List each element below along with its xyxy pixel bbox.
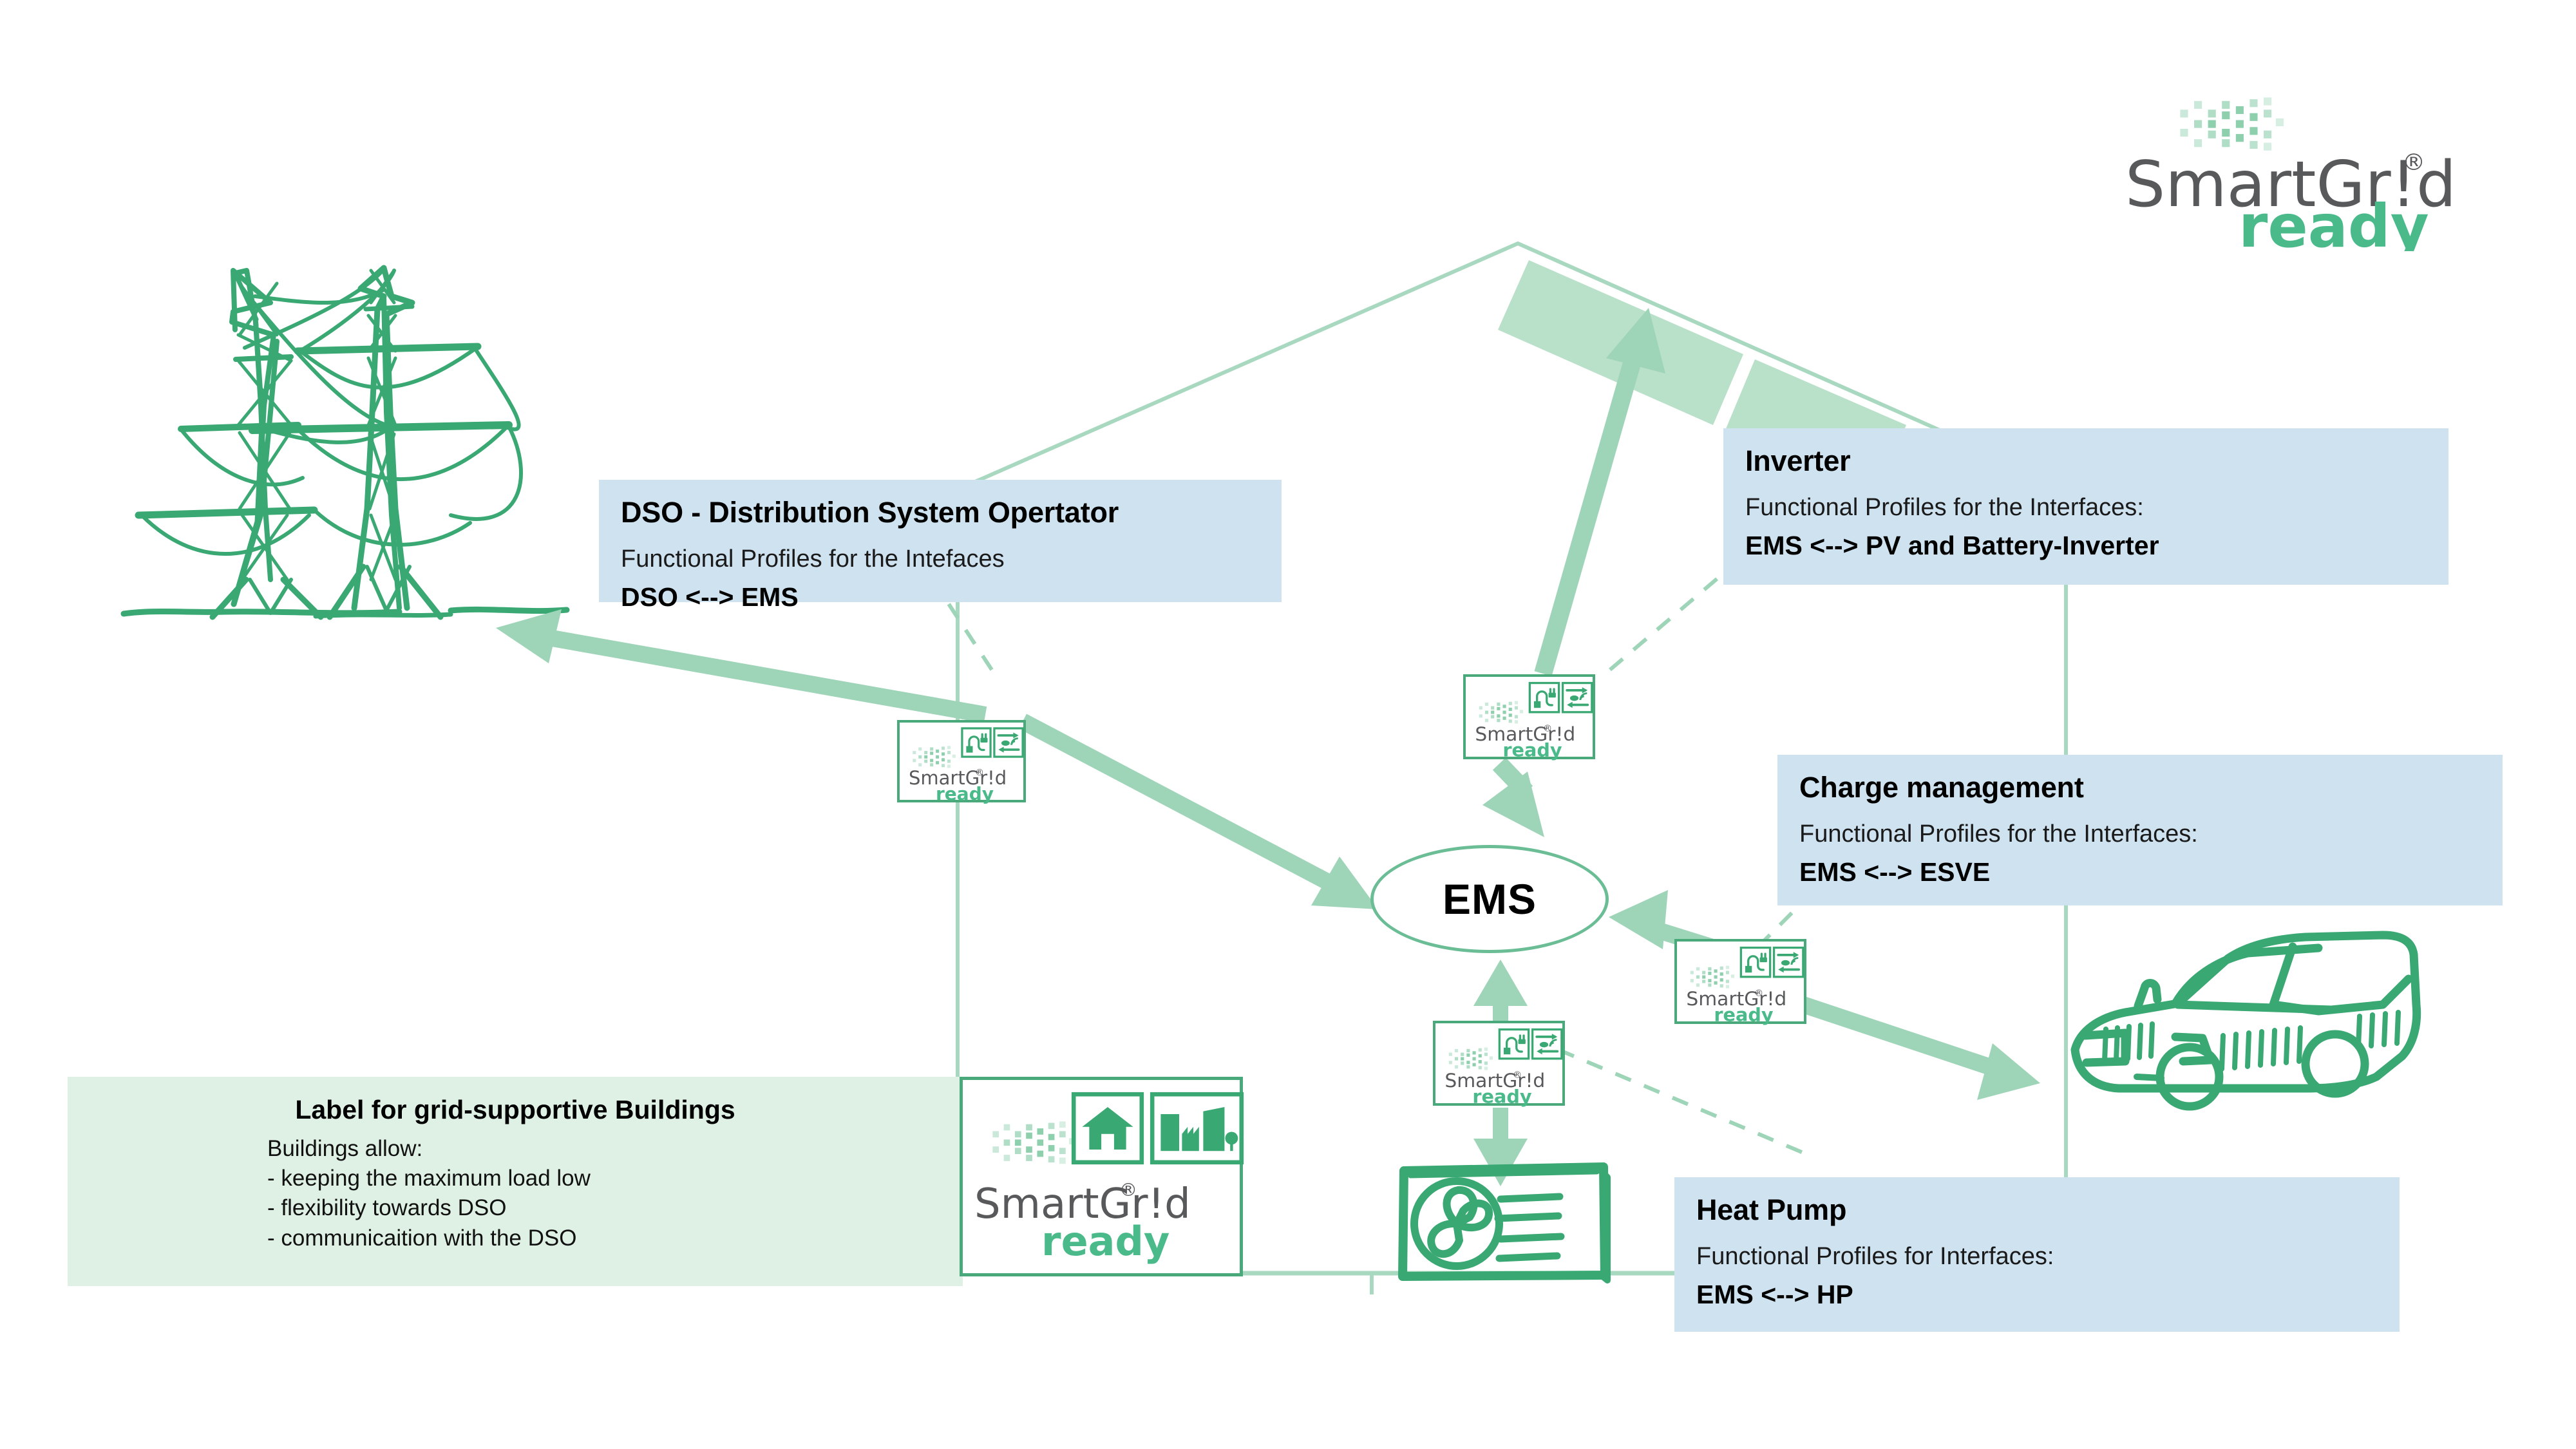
badge-smartgrid-ready-dso[interactable]: SmartGr!d ® ready: [897, 720, 1026, 802]
label-box-bullet-2: - flexibility towards DSO: [267, 1193, 937, 1223]
logo-registered-mark: ®: [2402, 149, 2425, 176]
badge-registered-mark: ®: [1543, 723, 1552, 734]
diagram-canvas: DSO - Distribution System Opertator Func…: [0, 0, 2576, 1449]
car-illustration: [2075, 935, 2417, 1106]
badge-dot-pattern: [913, 746, 956, 768]
badge-wordmark-light: ready: [1041, 1218, 1170, 1265]
arrow-badge-to-ems-left: [1023, 721, 1378, 909]
heat-pump-illustration: [1403, 1167, 1607, 1280]
label-box-bullet-1: - keeping the maximum load low: [267, 1164, 937, 1193]
badge-wordmark-light: ready: [1714, 1003, 1773, 1025]
badge-registered-mark: ®: [1119, 1179, 1137, 1200]
label-box-title: Label for grid-supportive Buildings: [93, 1095, 937, 1125]
logo-svg: SmartGr!d ® ready: [2125, 90, 2460, 251]
arrow-ems-hp-up: [1473, 960, 1528, 1030]
heatpump-subtitle: Functional Profiles for Interfaces:: [1696, 1243, 2378, 1271]
badge-registered-mark: ®: [1754, 988, 1763, 998]
badge-grid-supportive-building-label[interactable]: SmartGr!d ® ready: [960, 1077, 1243, 1276]
badge-wordmark-light: ready: [1502, 739, 1562, 761]
dashed-heatpump-badge: [1558, 1050, 1803, 1153]
inverter-interface: EMS <--> PV and Battery-Inverter: [1745, 531, 2427, 561]
info-box-inverter[interactable]: Inverter Functional Profiles for the Int…: [1723, 428, 2448, 585]
badge-registered-mark: ®: [975, 768, 984, 778]
info-box-charge-management[interactable]: Charge management Functional Profiles fo…: [1777, 755, 2503, 905]
heatpump-interface: EMS <--> HP: [1696, 1280, 2378, 1310]
badge-wordmark-light: ready: [936, 783, 994, 804]
arrow-ems-to-dso-grid: [496, 609, 985, 715]
charge-subtitle: Functional Profiles for the Interfaces:: [1799, 820, 2481, 849]
badge-svg: SmartGr!d ® ready: [1677, 942, 1809, 1027]
dso-interface: DSO <--> EMS: [621, 582, 1260, 612]
badge-dot-pattern: [1449, 1048, 1493, 1070]
label-box-lead: Buildings allow:: [267, 1134, 937, 1164]
communication-icon: [1774, 948, 1803, 977]
badge-smartgrid-ready-heatpump[interactable]: SmartGr!d ® ready: [1433, 1021, 1565, 1106]
badge-dot-pattern: [1479, 701, 1523, 724]
badge-svg: SmartGr!d ® ready: [1435, 1023, 1567, 1108]
plug-icon: [962, 728, 990, 757]
ems-label: EMS: [1443, 875, 1537, 923]
info-box-dso[interactable]: DSO - Distribution System Opertator Func…: [599, 480, 1282, 602]
logo-dot-pattern: [2180, 97, 2284, 150]
badge-smartgrid-ready-charge[interactable]: SmartGr!d ® ready: [1674, 939, 1806, 1024]
city-buildings-icon: [1152, 1094, 1242, 1162]
ems-node[interactable]: EMS: [1370, 845, 1609, 953]
plug-icon: [1741, 948, 1770, 977]
pylon-illustration: [124, 268, 567, 617]
plug-icon: [1499, 1030, 1528, 1059]
inverter-subtitle: Functional Profiles for the Interfaces:: [1745, 494, 2427, 522]
badge-dot-pattern: [992, 1121, 1075, 1164]
label-box-bullet-3: - communicaition with the DSO: [267, 1224, 937, 1253]
info-box-heat-pump[interactable]: Heat Pump Functional Profiles for Interf…: [1674, 1177, 2400, 1332]
communication-icon: [994, 728, 1023, 757]
dso-subtitle: Functional Profiles for the Intefaces: [621, 545, 1260, 574]
building-badge-svg: SmartGr!d ® ready: [963, 1080, 1246, 1280]
badge-registered-mark: ®: [1513, 1070, 1522, 1080]
badge-dot-pattern: [1690, 966, 1734, 989]
arrow-inverter-to-ems-down: [1482, 764, 1544, 837]
smartgrid-ready-logo: SmartGr!d ® ready: [2125, 90, 2460, 245]
badge-svg: SmartGr!d ® ready: [1466, 677, 1598, 762]
badge-svg: SmartGr!d ® ready: [900, 723, 1028, 805]
inverter-title: Inverter: [1745, 445, 2427, 477]
communication-icon: [1563, 683, 1592, 712]
plug-icon: [1529, 683, 1558, 712]
communication-icon: [1533, 1030, 1562, 1059]
badge-wordmark-light: ready: [1472, 1085, 1531, 1107]
logo-wordmark-light: ready: [2239, 192, 2429, 251]
dso-title: DSO - Distribution System Opertator: [621, 497, 1260, 529]
house-icon: [1074, 1094, 1142, 1162]
charge-interface: EMS <--> ESVE: [1799, 857, 2481, 887]
dashed-inverter-badge: [1610, 560, 1739, 670]
charge-title: Charge management: [1799, 772, 2481, 804]
heatpump-title: Heat Pump: [1696, 1194, 2378, 1226]
badge-smartgrid-ready-inverter[interactable]: SmartGr!d ® ready: [1463, 674, 1595, 759]
label-box-grid-supportive-buildings[interactable]: Label for grid-supportive Buildings Buil…: [68, 1077, 963, 1286]
